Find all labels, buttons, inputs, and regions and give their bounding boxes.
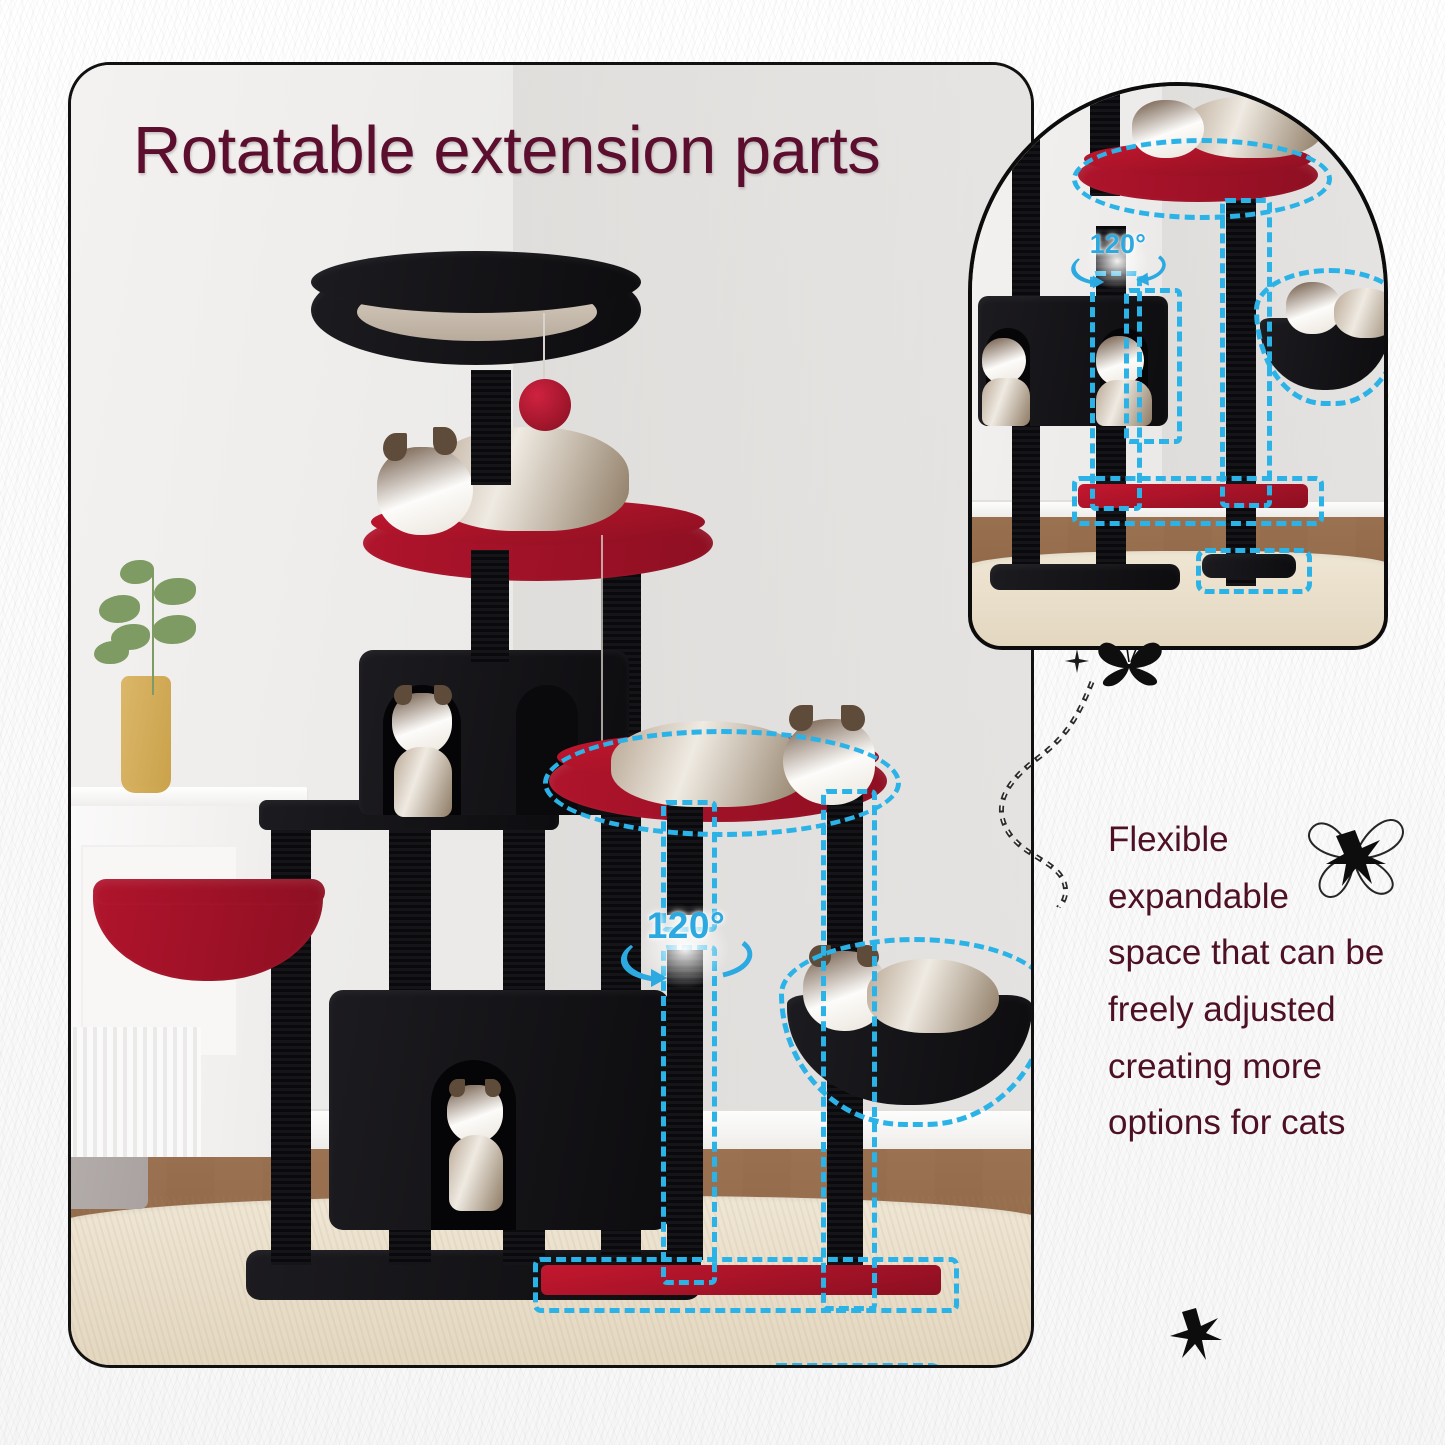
side-line-4: creating more [1108,1039,1438,1096]
pom-pom-string [543,313,545,385]
middle-platform-post-upper [667,805,703,915]
inset-extension-foot [1202,554,1296,578]
chain-trail-icon [972,676,1112,908]
inset-cat-on-red-platform [1132,88,1322,158]
middle-platform-post-lower [667,950,703,1260]
inset-detail-panel: 120° [968,82,1388,650]
cat-in-lower-condo [443,1075,507,1215]
inset-cat-in-hammock [1286,276,1388,346]
potted-plant [92,553,207,696]
top-bed-post [471,370,511,485]
sparkle-star-icon [1168,1306,1224,1362]
main-photo-panel: 120° [68,62,1034,1368]
pom-pom-toy [519,379,571,431]
cat-in-upper-condo [389,685,457,815]
inset-post-right [1226,156,1256,586]
inset-base [990,564,1180,590]
rotation-badge-main: 120° [611,903,761,995]
rotation-badge-label: 120° [611,905,761,947]
side-line-5: options for cats [1108,1095,1438,1152]
inset-cat-in-condo [1094,332,1156,426]
rotation-badge-inset: 120° [1064,228,1172,294]
page-title: Rotatable extension parts [133,116,1013,186]
upper-platform-post [471,550,509,665]
butterfly-outline-icon [1296,806,1414,902]
radiator [68,1027,201,1157]
side-line-3: freely adjusted [1108,982,1438,1039]
inset-lower-red-shelf [1078,484,1308,508]
red-hammock-left-rim [93,879,325,905]
inset-cat-left-condo [982,332,1034,426]
bottom-red-shelf [541,1265,941,1295]
cat-on-middle-red-platform [611,705,881,809]
side-line-2: space that can be [1108,925,1438,982]
small-sparkle-icon [1064,648,1090,674]
hanging-string [601,535,603,745]
inset-rotation-badge-label: 120° [1064,229,1172,259]
top-bed-rim [311,251,641,313]
cat-in-black-hammock [795,945,1005,1045]
